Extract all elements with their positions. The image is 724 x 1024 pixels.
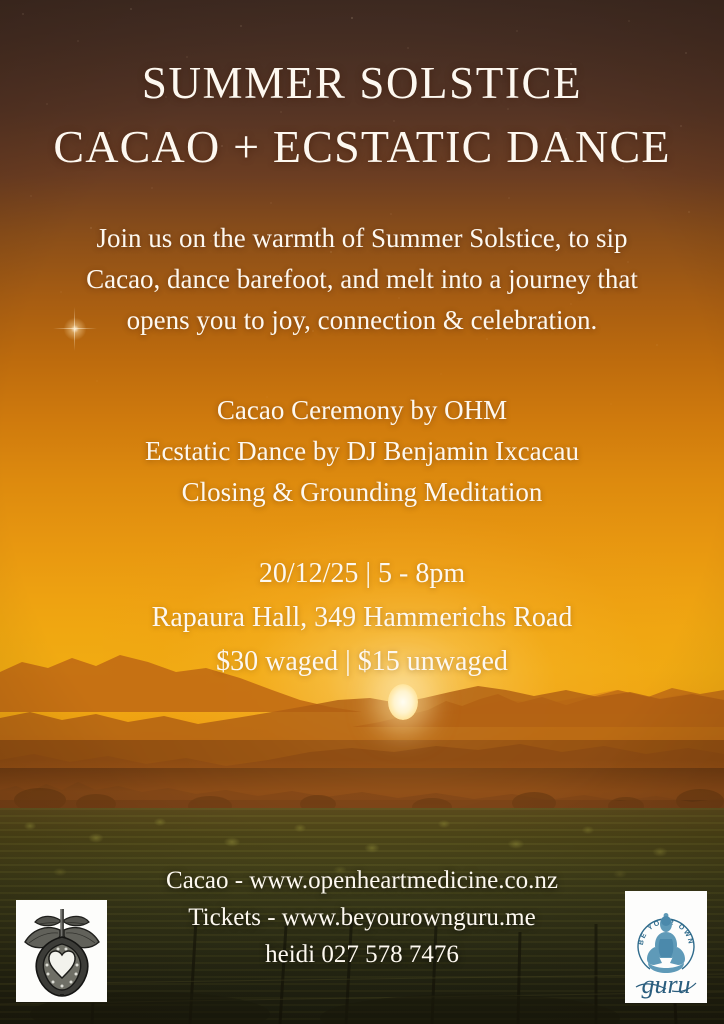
lineup-cacao-ceremony: Cacao Ceremony by OHM [0,390,724,431]
footer-cacao-website[interactable]: Cacao - www.openheartmedicine.co.nz [0,862,724,899]
event-details: 20/12/25 | 5 - 8pm Rapaura Hall, 349 Ham… [0,552,724,684]
event-datetime: 20/12/25 | 5 - 8pm [0,552,724,596]
buddha-meditation-icon: BE YOUR OWN guru [628,895,704,999]
event-venue: Rapaura Hall, 349 Hammerichs Road [0,596,724,640]
poster-content: SUMMER SOLSTICE CACAO + ECSTATIC DANCE J… [0,0,724,1024]
lineup-closing-meditation: Closing & Grounding Meditation [0,472,724,513]
intro-line-3: opens you to joy, connection & celebrati… [36,300,688,341]
headline-line-1: SUMMER SOLSTICE [0,52,724,115]
event-price: $30 waged | $15 unwaged [0,640,724,684]
programme-lineup: Cacao Ceremony by OHM Ecstatic Dance by … [0,390,724,513]
footer-phone[interactable]: heidi 027 578 7476 [0,936,724,973]
be-your-own-guru-logo[interactable]: BE YOUR OWN guru [625,891,707,1003]
contact-footer: Cacao - www.openheartmedicine.co.nz Tick… [0,862,724,973]
intro-line-2: Cacao, dance barefoot, and melt into a j… [36,259,688,300]
cacao-pod-heart-icon [20,904,104,998]
intro-paragraph: Join us on the warmth of Summer Solstice… [36,218,688,341]
footer-tickets-website[interactable]: Tickets - www.beyourownguru.me [0,899,724,936]
headline-line-2: CACAO + ECSTATIC DANCE [0,115,724,178]
poster-headline: SUMMER SOLSTICE CACAO + ECSTATIC DANCE [0,52,724,178]
cacao-pod-logo[interactable] [16,900,107,1002]
event-poster: SUMMER SOLSTICE CACAO + ECSTATIC DANCE J… [0,0,724,1024]
lineup-ecstatic-dance: Ecstatic Dance by DJ Benjamin Ixcacau [0,431,724,472]
intro-line-1: Join us on the warmth of Summer Solstice… [36,218,688,259]
